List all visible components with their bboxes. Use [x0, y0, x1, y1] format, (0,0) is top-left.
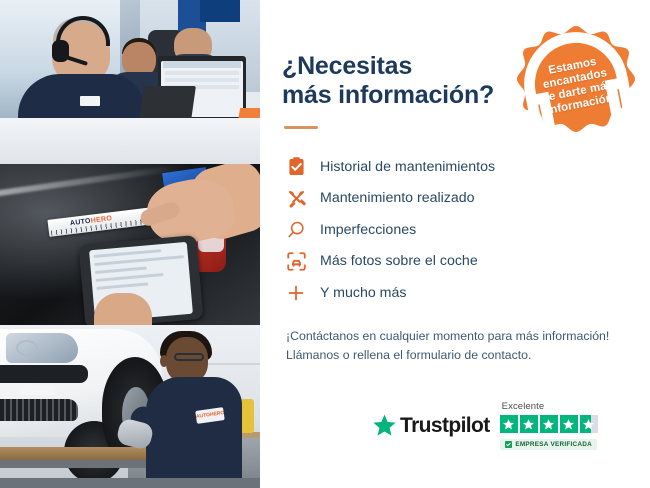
photo-column: AUTOHERO: [0, 0, 260, 488]
plus-icon: [286, 283, 306, 303]
check-icon: [505, 441, 512, 448]
headline-line-1: ¿Necesitas: [282, 52, 412, 80]
magnifier-icon: [286, 220, 306, 240]
star-filled: [540, 415, 558, 433]
content-panel: ¿Necesitas más información? Esta: [260, 0, 650, 488]
screen-row: [165, 78, 239, 82]
trustpilot-star-icon: [372, 413, 397, 438]
headline-line-2: más información?: [282, 81, 494, 109]
star-filled: [560, 415, 578, 433]
agent-name-badge: [80, 96, 100, 106]
support-badge-content: Estamos encantados de darte más informac…: [503, 11, 648, 156]
tablet-row: [96, 282, 148, 290]
screen-row: [165, 71, 239, 75]
safety-glasses-icon: [174, 353, 204, 361]
tablet-row: [96, 273, 164, 282]
feature-item-much-more: Y mucho más: [286, 277, 628, 309]
car-upper-grille: [0, 365, 88, 383]
photo-call-center-agents-with-headsets: [0, 0, 260, 164]
front-desk: [0, 118, 260, 164]
car-frame-icon: [286, 251, 306, 271]
feature-item-imperfections: Imperfecciones: [286, 214, 628, 246]
title-divider: [284, 126, 318, 129]
feature-list: Historial de mantenimientos Mantenimient…: [286, 151, 628, 309]
trustpilot-rating-block: Excelente: [500, 401, 598, 450]
trustpilot-rating-label: Excelente: [502, 401, 545, 412]
trustpilot-logo[interactable]: Trustpilot: [372, 413, 490, 438]
blue-banner: [200, 0, 240, 22]
trustpilot-stars: [500, 415, 598, 433]
photo-inspection-ruler-on-car-with-tablet: AUTOHERO: [0, 164, 260, 325]
car-license-plate: [20, 385, 54, 395]
feature-label: Historial de mantenimientos: [320, 159, 495, 175]
support-badge: Estamos encantados de darte más informac…: [514, 22, 638, 146]
workshop-floor: [0, 478, 260, 488]
verified-company-badge: EMPRESA VERIFICADA: [500, 439, 597, 450]
feature-label: Imperfecciones: [320, 222, 416, 238]
feature-label: Mantenimiento realizado: [320, 190, 475, 206]
lift-base: [0, 460, 150, 468]
verified-company-label: EMPRESA VERIFICADA: [515, 441, 592, 448]
car-lower-grille: [0, 399, 78, 421]
star-filled: [500, 415, 518, 433]
feature-label: Y mucho más: [320, 285, 406, 301]
promo-card: AUTOHERO: [0, 0, 650, 488]
tablet-row: [95, 266, 147, 274]
contact-line-1: ¡Contáctanos en cualquier momento para m…: [286, 329, 609, 343]
contact-text: ¡Contáctanos en cualquier momento para m…: [286, 327, 628, 366]
mechanic-ear: [160, 355, 168, 367]
clipboard-check-icon: [286, 157, 306, 177]
feature-label: Más fotos sobre el coche: [320, 253, 478, 269]
trustpilot-widget[interactable]: Trustpilot Excelente: [372, 401, 598, 450]
car-headlight: [6, 333, 78, 363]
feature-item-more-photos: Más fotos sobre el coche: [286, 246, 628, 278]
trustpilot-brand-name: Trustpilot: [400, 414, 490, 438]
screen-toolbar: [163, 61, 241, 68]
tablet-row: [93, 249, 161, 258]
inspector-hand-holding-tablet: [94, 293, 152, 325]
shelf-bottle-yellow: [240, 399, 254, 433]
tools-cross-icon: [286, 188, 306, 208]
feature-item-maintenance-done: Mantenimiento realizado: [286, 183, 628, 215]
page-title: ¿Necesitas más información?: [282, 52, 512, 110]
feature-item-maintenance-history: Historial de mantenimientos: [286, 151, 628, 183]
star-filled: [520, 415, 538, 433]
photo-mechanic-inspecting-wheel-on-lift: AUTOHERO: [0, 325, 260, 488]
contact-line-2: Llámanos o rellena el formulario de cont…: [286, 348, 531, 362]
lift-ramp: [0, 447, 150, 460]
star-partial: [580, 415, 598, 433]
